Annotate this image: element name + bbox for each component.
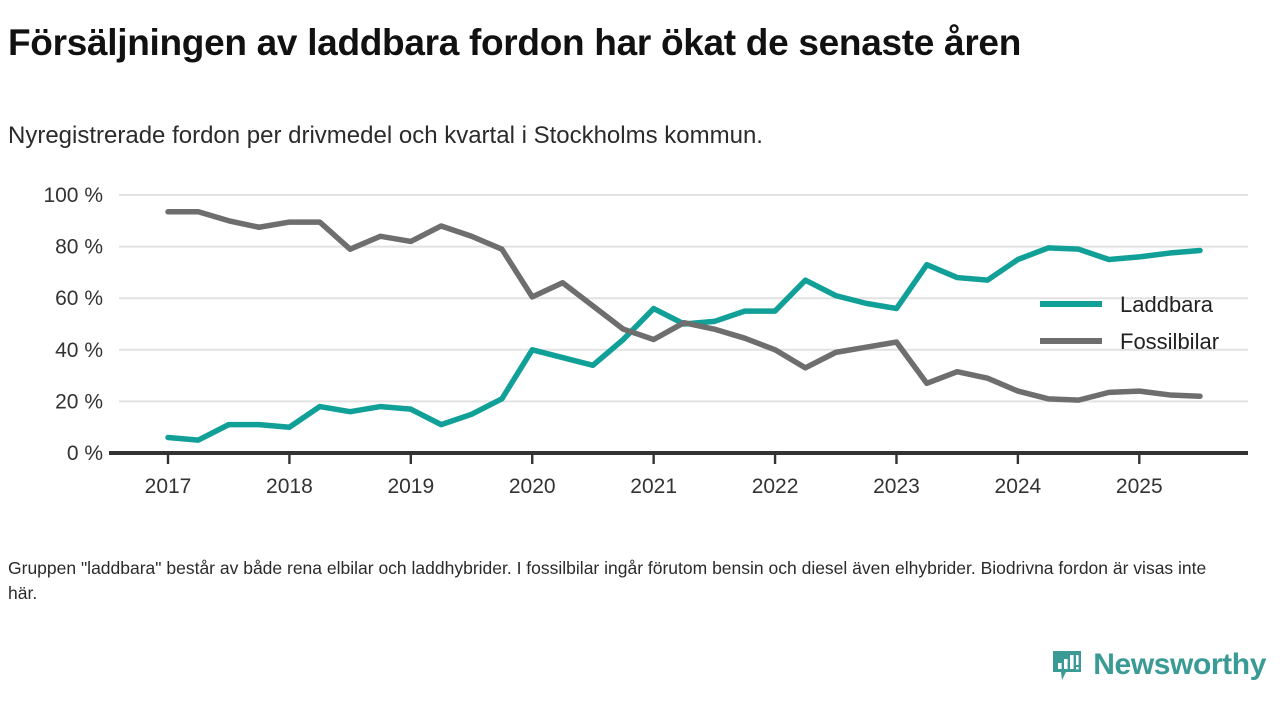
x-axis-tick-labels: 201720182019202020212022202320242025 bbox=[145, 475, 1163, 498]
chart-page: Försäljningen av laddbara fordon har öka… bbox=[0, 0, 1280, 720]
x-axis-tick-label: 2022 bbox=[752, 475, 799, 498]
chart-footnote: Gruppen "laddbara" består av både rena e… bbox=[8, 556, 1233, 607]
x-axis-tick-label: 2019 bbox=[387, 475, 434, 498]
bar-chart-bubble-icon bbox=[1050, 648, 1084, 682]
legend-label-fossilbilar[interactable]: Fossilbilar bbox=[1120, 329, 1219, 354]
y-axis-tick-label: 80 % bbox=[55, 236, 103, 259]
y-axis-tick-label: 60 % bbox=[55, 287, 103, 310]
y-axis-tick-label: 100 % bbox=[43, 184, 103, 207]
x-axis-tick-label: 2025 bbox=[1116, 475, 1163, 498]
x-axis-tick-label: 2023 bbox=[873, 475, 920, 498]
page-subtitle: Nyregistrerade fordon per drivmedel och … bbox=[8, 122, 763, 150]
legend-label-laddbara[interactable]: Laddbara bbox=[1120, 292, 1214, 317]
x-axis-tick-label: 2021 bbox=[630, 475, 677, 498]
newsworthy-logo[interactable]: Newsworthy bbox=[1050, 648, 1266, 682]
x-axis-tick-label: 2020 bbox=[509, 475, 556, 498]
page-title: Försäljningen av laddbara fordon har öka… bbox=[8, 22, 1021, 64]
x-axis-tick-label: 2017 bbox=[145, 475, 192, 498]
chart-legend: LaddbaraFossilbilar bbox=[1040, 292, 1219, 354]
chart-canvas: 0 %20 %40 %60 %80 %100 % 201720182019202… bbox=[0, 170, 1280, 515]
x-axis-tick-label: 2018 bbox=[266, 475, 313, 498]
y-axis-tick-label: 20 % bbox=[55, 390, 103, 413]
gridlines bbox=[119, 195, 1248, 401]
y-axis-tick-label: 40 % bbox=[55, 339, 103, 362]
y-axis-tick-labels: 0 %20 %40 %60 %80 %100 % bbox=[43, 184, 103, 465]
y-axis-tick-label: 0 % bbox=[67, 442, 103, 465]
line-chart: 0 %20 %40 %60 %80 %100 % 201720182019202… bbox=[0, 170, 1280, 515]
x-axis bbox=[109, 453, 1248, 464]
logo-wordmark: Newsworthy bbox=[1093, 650, 1266, 680]
x-axis-tick-label: 2024 bbox=[995, 475, 1042, 498]
